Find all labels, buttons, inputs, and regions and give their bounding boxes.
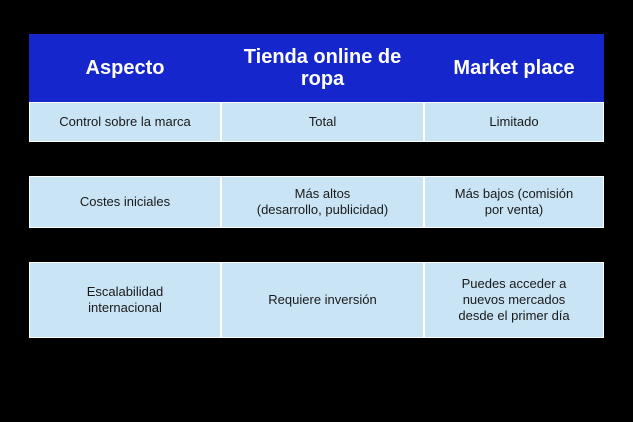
table-row: Control sobre la marca Total Limitado: [29, 102, 604, 142]
page-root: Aspecto Tienda online de ropa Market pla…: [0, 0, 633, 422]
table-cell: Control sobre la marca: [29, 102, 221, 142]
table-row: Escalabilidadinternacional Requiere inve…: [29, 262, 604, 338]
table-cell: Costes iniciales: [29, 176, 221, 228]
table-cell: Más bajos (comisiónpor venta): [424, 176, 604, 228]
header-cell-tienda-online: Tienda online de ropa: [221, 34, 424, 102]
table-header-row: Aspecto Tienda online de ropa Market pla…: [29, 34, 604, 102]
table-cell: Limitado: [424, 102, 604, 142]
table-cell: Requiere inversión: [221, 262, 424, 338]
row-spacer: [29, 228, 604, 262]
table-cell: Puedes acceder anuevos mercadosdesde el …: [424, 262, 604, 338]
row-spacer: [29, 142, 604, 176]
header-cell-market-place: Market place: [424, 34, 604, 102]
table-cell: Total: [221, 102, 424, 142]
comparison-table: Aspecto Tienda online de ropa Market pla…: [29, 34, 604, 338]
table-cell: Escalabilidadinternacional: [29, 262, 221, 338]
table-cell: Más altos(desarrollo, publicidad): [221, 176, 424, 228]
header-cell-aspecto: Aspecto: [29, 34, 221, 102]
table-row: Costes iniciales Más altos(desarrollo, p…: [29, 176, 604, 228]
